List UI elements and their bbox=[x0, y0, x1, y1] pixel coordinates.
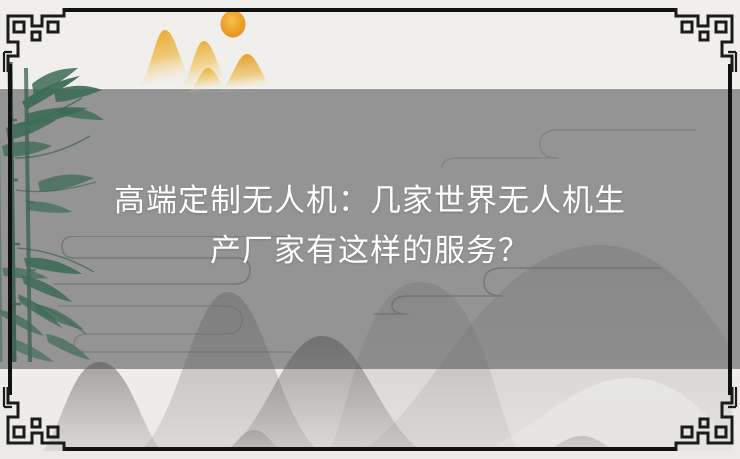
corner-ornament-top-left-icon bbox=[2, 2, 74, 74]
corner-ornament-bottom-right-icon bbox=[666, 385, 738, 457]
corner-ornament-top-right-icon bbox=[666, 2, 738, 74]
frame-rule-bottom bbox=[64, 447, 676, 451]
golden-mountains-sun-illustration bbox=[128, 8, 298, 92]
frame-rule-left bbox=[8, 64, 12, 395]
frame-rule-top bbox=[64, 8, 676, 12]
ruyi-accent-line-right bbox=[372, 266, 662, 316]
sun-icon bbox=[221, 11, 246, 38]
corner-ornament-bottom-left-icon bbox=[2, 385, 74, 457]
ruyi-accent-line-lower-left bbox=[56, 304, 296, 354]
ruyi-accent-line-left bbox=[52, 236, 292, 292]
poster-canvas: 高端定制无人机：几家世界无人机生 产厂家有这样的服务？ bbox=[0, 0, 740, 459]
frame-rule-right bbox=[728, 64, 732, 395]
ruyi-accent-line-upper-right bbox=[398, 128, 698, 172]
